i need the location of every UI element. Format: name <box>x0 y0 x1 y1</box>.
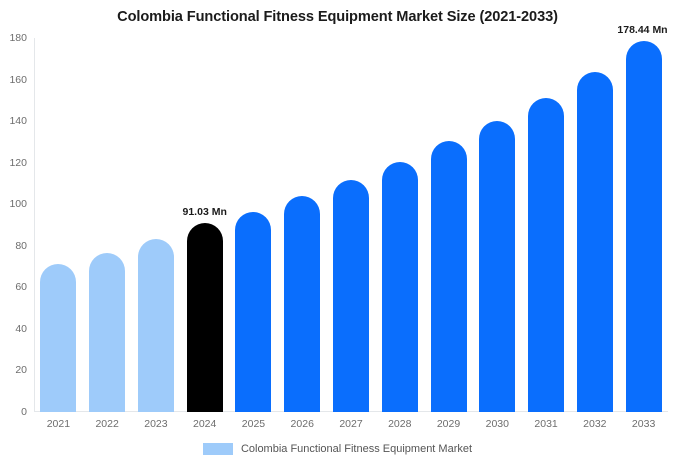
x-axis-tick-label: 2032 <box>570 418 619 430</box>
plot-area: 91.03 Mn178.44 Mn <box>34 38 668 412</box>
x-axis-tick-label: 2031 <box>522 418 571 430</box>
legend-swatch-icon <box>203 443 233 455</box>
bar-2027[interactable] <box>333 180 369 412</box>
bar-slot <box>382 38 418 412</box>
bar-slot <box>431 38 467 412</box>
bar-slot <box>89 38 125 412</box>
y-axis-tick-label: 80 <box>0 240 27 252</box>
bar-2032[interactable] <box>577 72 613 412</box>
y-axis-tick-label: 100 <box>0 198 27 210</box>
x-axis-tick-label: 2021 <box>34 418 83 430</box>
bar-2031[interactable] <box>528 98 564 412</box>
bar-slot <box>284 38 320 412</box>
bar-2026[interactable] <box>284 196 320 412</box>
bar-slot <box>528 38 564 412</box>
y-axis-tick-label: 180 <box>0 32 27 44</box>
bar-2030[interactable] <box>479 121 515 413</box>
x-axis-tick-label: 2028 <box>375 418 424 430</box>
y-axis-tick-label: 60 <box>0 281 27 293</box>
y-axis-tick-label: 0 <box>0 406 27 418</box>
bar-slot: 178.44 Mn <box>626 38 662 412</box>
x-axis-tick-label: 2023 <box>132 418 181 430</box>
bar-2033[interactable] <box>626 41 662 412</box>
x-axis-tick-label: 2027 <box>327 418 376 430</box>
y-axis-tick-label: 20 <box>0 364 27 376</box>
legend-item[interactable]: Colombia Functional Fitness Equipment Ma… <box>203 443 472 455</box>
legend-item-label: Colombia Functional Fitness Equipment Ma… <box>241 443 472 455</box>
x-axis-tick-label: 2022 <box>83 418 132 430</box>
bar-2022[interactable] <box>89 253 125 412</box>
x-axis-tick-label: 2026 <box>278 418 327 430</box>
y-axis-tick-label: 160 <box>0 74 27 86</box>
y-axis-tick-label: 120 <box>0 157 27 169</box>
chart-container: Colombia Functional Fitness Equipment Ma… <box>0 0 675 469</box>
bar-value-label: 178.44 Mn <box>617 24 667 36</box>
x-axis-tick-label: 2029 <box>424 418 473 430</box>
y-axis-tick-label: 40 <box>0 323 27 335</box>
bar-slot <box>577 38 613 412</box>
chart-legend: Colombia Functional Fitness Equipment Ma… <box>0 443 675 455</box>
bar-2021[interactable] <box>40 264 76 412</box>
bar-2023[interactable] <box>138 239 174 412</box>
bar-slot <box>40 38 76 412</box>
bar-2029[interactable] <box>431 141 467 412</box>
bar-slot <box>138 38 174 412</box>
chart-title: Colombia Functional Fitness Equipment Ma… <box>0 8 675 26</box>
bar-2024[interactable] <box>187 223 223 412</box>
x-axis-tick-label: 2033 <box>619 418 668 430</box>
bar-2028[interactable] <box>382 162 418 412</box>
x-axis-tick-label: 2025 <box>229 418 278 430</box>
x-axis-tick-label: 2030 <box>473 418 522 430</box>
bar-slot <box>333 38 369 412</box>
bar-slot <box>479 38 515 412</box>
bar-slot: 91.03 Mn <box>187 38 223 412</box>
bar-slot <box>235 38 271 412</box>
bar-2025[interactable] <box>235 212 271 412</box>
bars-layer: 91.03 Mn178.44 Mn <box>34 38 668 412</box>
y-axis-tick-label: 140 <box>0 115 27 127</box>
bar-value-label: 91.03 Mn <box>183 206 227 218</box>
x-axis-tick-label: 2024 <box>180 418 229 430</box>
